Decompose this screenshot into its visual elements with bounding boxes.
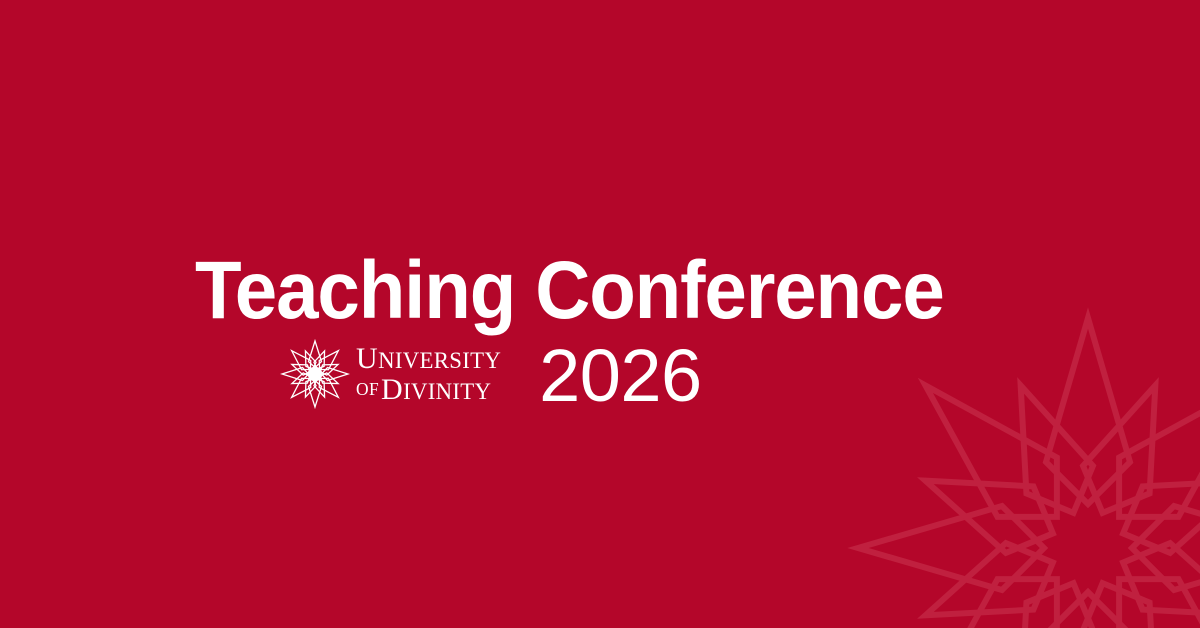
wordmark-divinity-rest: IVINITY [403, 379, 491, 404]
wordmark-u-initial: U [356, 342, 378, 375]
conference-year: 2026 [539, 339, 702, 413]
wordmark-d-initial: D [381, 373, 403, 406]
wordmark-of: OF [356, 379, 379, 399]
wordmark-university-rest: NIVERSITY [378, 348, 501, 373]
page-title: Teaching Conference [195, 252, 967, 329]
logo-and-year-row: UNIVERSITY OFDIVINITY 2026 [280, 337, 1025, 411]
wordmark-line-university: UNIVERSITY [356, 344, 501, 374]
university-of-divinity-star-logo-icon [280, 339, 350, 409]
logo-wordmark: UNIVERSITY OFDIVINITY [356, 344, 501, 405]
banner-lockup: Teaching Conference [195, 252, 1025, 411]
conference-banner: Teaching Conference [0, 0, 1200, 628]
wordmark-line-of-divinity: OFDIVINITY [356, 375, 501, 405]
